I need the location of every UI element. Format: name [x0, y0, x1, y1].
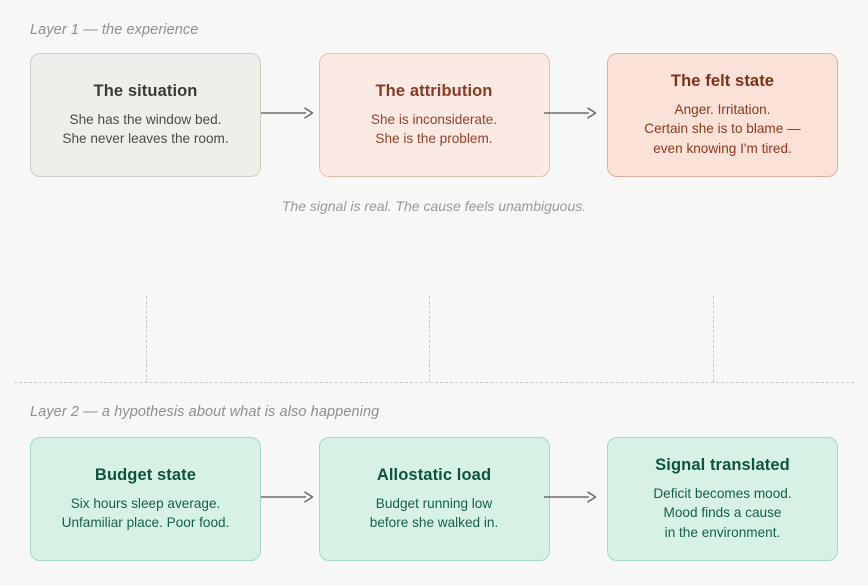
- dashed-link-icon-column-1: [146, 296, 147, 382]
- layer-1-label: Layer 1 — the experience: [30, 22, 198, 38]
- node-signal-translated[interactable]: Signal translated Deficit becomes mood. …: [607, 437, 838, 561]
- layer-1-node-row: The situation She has the window bed. Sh…: [0, 53, 868, 177]
- node-body: Budget running low before she walked in.: [370, 494, 498, 533]
- node-allostatic-load[interactable]: Allostatic load Budget running low befor…: [319, 437, 550, 561]
- node-budget-state[interactable]: Budget state Six hours sleep average. Un…: [30, 437, 261, 561]
- node-title: Allostatic load: [377, 466, 491, 485]
- node-body: Six hours sleep average. Unfamiliar plac…: [62, 494, 230, 533]
- node-title: The situation: [94, 82, 198, 101]
- node-title: Budget state: [95, 466, 196, 485]
- layer-2-label: Layer 2 — a hypothesis about what is als…: [30, 404, 379, 420]
- node-body: She has the window bed. She never leaves…: [62, 110, 228, 149]
- node-the-attribution[interactable]: The attribution She is inconsiderate. Sh…: [319, 53, 550, 177]
- node-the-situation[interactable]: The situation She has the window bed. Sh…: [30, 53, 261, 177]
- node-body: She is inconsiderate. She is the problem…: [371, 110, 497, 149]
- dashed-link-icon-column-3: [713, 296, 714, 382]
- node-title: The attribution: [376, 82, 493, 101]
- layer-divider: [14, 382, 854, 383]
- layer-2-node-row: Budget state Six hours sleep average. Un…: [0, 437, 868, 561]
- node-title: Signal translated: [655, 456, 790, 475]
- diagram-canvas: Layer 1 — the experience The situation S…: [0, 0, 868, 585]
- layer-1-caption: The signal is real. The cause feels unam…: [0, 198, 868, 214]
- node-title: The felt state: [671, 72, 774, 91]
- dashed-link-icon-column-2: [429, 296, 430, 382]
- node-the-felt-state[interactable]: The felt state Anger. Irritation. Certai…: [607, 53, 838, 177]
- node-body: Deficit becomes mood. Mood finds a cause…: [653, 484, 791, 542]
- node-body: Anger. Irritation. Certain she is to bla…: [644, 100, 800, 158]
